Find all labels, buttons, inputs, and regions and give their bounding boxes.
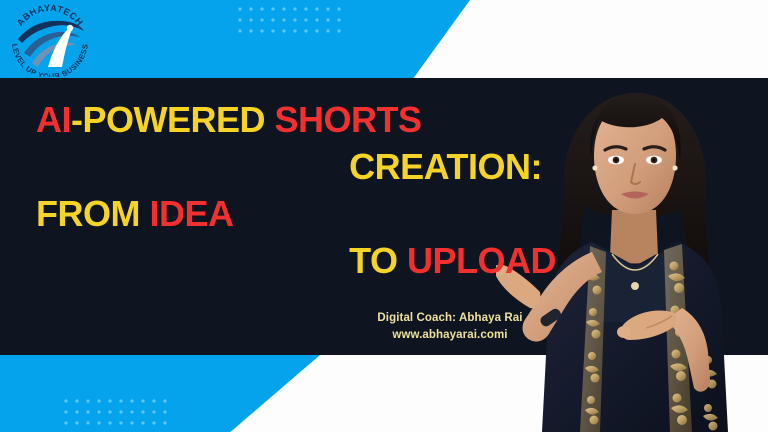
headline-line-1: AI-POWERED SHORTS bbox=[36, 96, 566, 143]
headline-line-4: TO UPLOAD bbox=[36, 237, 566, 284]
headline-seg-idea: IDEA bbox=[149, 193, 233, 234]
subtitle-block: Digital Coach: Abhaya Rai www.abhayarai.… bbox=[330, 310, 570, 344]
brand-logo[interactable]: ABHAYATECH LEVEL UP YOUR BUSINESS bbox=[4, 1, 96, 77]
headline-seg-ai: AI bbox=[36, 99, 71, 140]
coach-name: Digital Coach: Abhaya Rai bbox=[330, 310, 570, 327]
headline: AI-POWERED SHORTS CREATION: FROM IDEA TO… bbox=[36, 96, 566, 284]
headline-seg-shorts: SHORTS bbox=[275, 99, 422, 140]
earring-right bbox=[672, 165, 677, 170]
bottom-dot-grid bbox=[64, 398, 174, 428]
headline-line-2: CREATION: bbox=[36, 143, 566, 190]
swoosh-road-icon bbox=[18, 21, 84, 67]
neck bbox=[610, 210, 658, 264]
headline-seg-creation: CREATION: bbox=[349, 146, 542, 187]
headline-seg-to: TO bbox=[349, 240, 407, 281]
youtube-thumbnail: ABHAYATECH LEVEL UP YOUR BUSINESS AI-POW… bbox=[0, 0, 768, 432]
top-dot-grid bbox=[238, 6, 348, 40]
website-url: www.abhayarai.comi bbox=[330, 327, 570, 344]
headline-seg-upload: UPLOAD bbox=[407, 240, 556, 281]
earring-left bbox=[592, 165, 597, 170]
headline-line-3: FROM IDEA bbox=[36, 190, 566, 237]
necklace-pendant bbox=[631, 282, 639, 290]
headline-seg-powered: -POWERED bbox=[71, 99, 275, 140]
headline-seg-from: FROM bbox=[36, 193, 149, 234]
